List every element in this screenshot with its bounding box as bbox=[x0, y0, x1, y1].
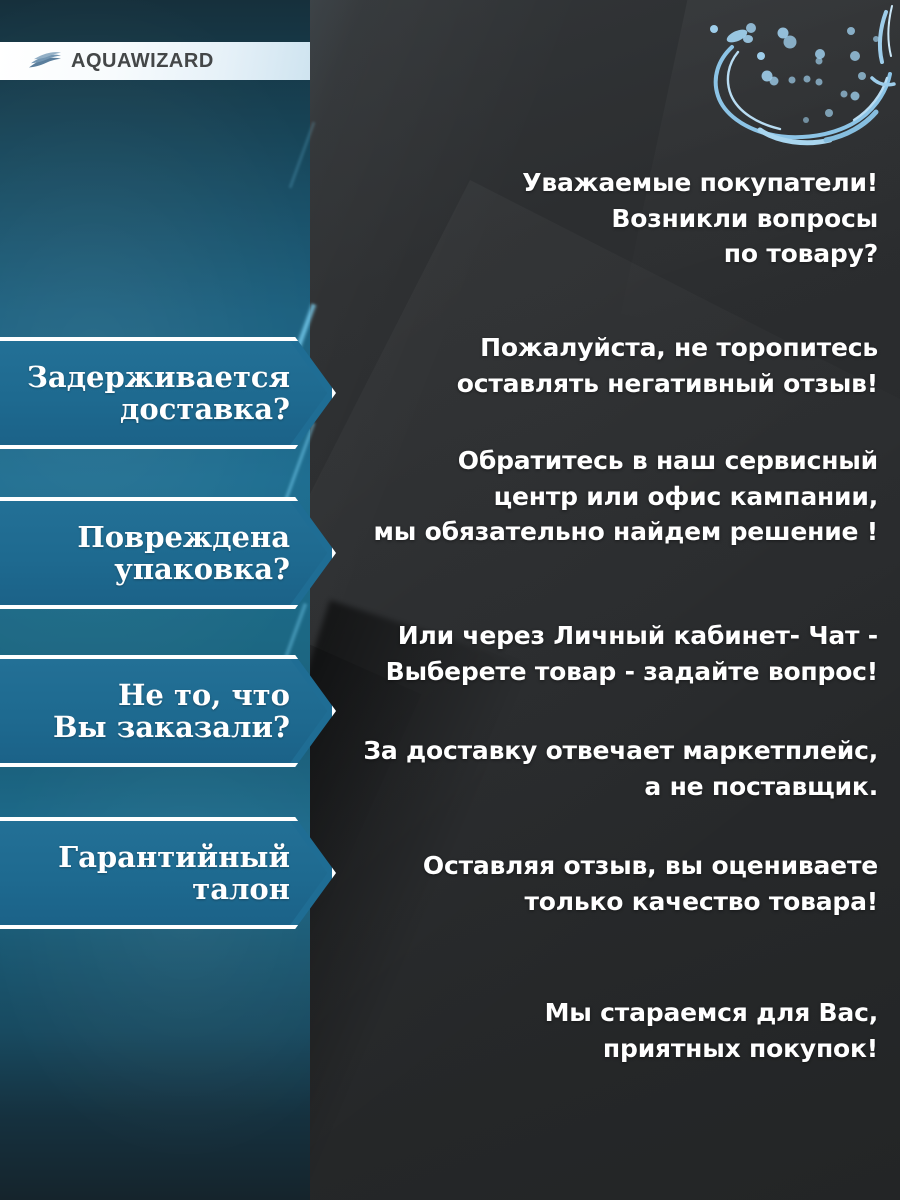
banner-label: Повреждена упаковка? bbox=[77, 521, 336, 586]
brand-logo: AQUAWIZARD bbox=[0, 42, 310, 80]
banner-delivery-delay[interactable]: Задерживается доставка? bbox=[0, 337, 336, 449]
banner-label: Задерживается доставка? bbox=[27, 361, 336, 426]
message-delivery-note: За доставку отвечает маркетплейс, а не п… bbox=[363, 733, 878, 804]
message-contact-service: Обратитесь в наш сервисный центр или офи… bbox=[374, 443, 879, 550]
message-review-scope: Оставляя отзыв, вы оцениваете только кач… bbox=[423, 848, 878, 919]
message-chat-path: Или через Личный кабинет- Чат - Выберете… bbox=[386, 618, 878, 689]
message-greeting: Уважаемые покупатели! Возникли вопросы п… bbox=[522, 165, 878, 272]
banner-wrong-item[interactable]: Не то, что Вы заказали? bbox=[0, 655, 336, 767]
message-no-negative: Пожалуйста, не торопитесь оставлять нега… bbox=[457, 330, 878, 401]
brand-logo-text: AQUAWIZARD bbox=[71, 50, 214, 73]
water-wave-icon bbox=[28, 51, 62, 71]
poster-canvas: AQUAWIZARD bbox=[0, 0, 900, 1200]
message-closing: Мы стараемся для Вас, приятных покупок! bbox=[545, 995, 878, 1066]
banner-damaged-packaging[interactable]: Повреждена упаковка? bbox=[0, 497, 336, 609]
message-column: Уважаемые покупатели! Возникли вопросы п… bbox=[330, 0, 900, 1200]
banner-warranty-card[interactable]: Гарантийный талон bbox=[0, 817, 336, 929]
banner-label: Не то, что Вы заказали? bbox=[53, 679, 336, 744]
banner-label: Гарантийный талон bbox=[58, 841, 336, 906]
